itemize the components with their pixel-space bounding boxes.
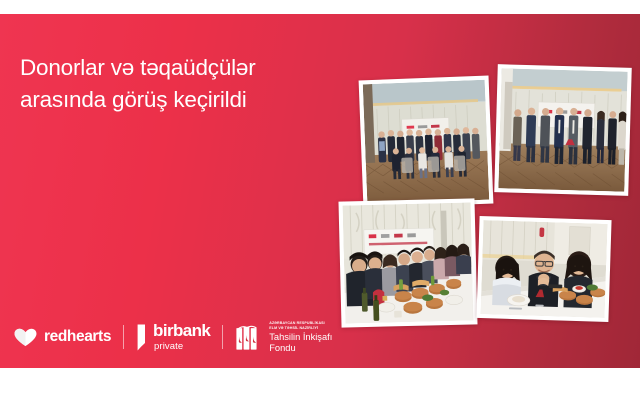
photo-dinner-guests: [338, 198, 477, 327]
photo-collage: [338, 60, 640, 365]
red-banner-background: Donorlar və təqaüdçülər arasında görüş k…: [0, 14, 640, 368]
photo-group-seated-image: [363, 80, 490, 205]
photo-dinner-trio-image: [481, 220, 608, 318]
heart-icon: [14, 328, 37, 347]
photo-dinner-guests-image: [343, 202, 474, 323]
logo-bar: redhearts birbank private: [14, 314, 332, 360]
photo-group-standing: [494, 64, 632, 196]
photo-dinner-trio: [476, 216, 611, 322]
photo-group-seated: [359, 76, 494, 209]
logo-birbank-private: birbank private: [136, 322, 210, 352]
birbank-flag-icon: [136, 324, 146, 351]
education-fund-name: Tahsilin İnkişafı Fondu: [269, 332, 332, 353]
ministry-label: AZƏRBAYCAN RESPUBLİKASI ELM VƏ TƏHSİL NA…: [269, 321, 332, 330]
logo-divider-2: [222, 325, 223, 349]
redhearts-wordmark: redhearts: [44, 328, 111, 346]
logo-divider-1: [123, 325, 124, 349]
logo-education-development-fund: AZƏRBAYCAN RESPUBLİKASI ELM VƏ TƏHSİL NA…: [235, 321, 332, 353]
photo-group-standing-image: [498, 68, 627, 191]
education-fund-emblem-icon: [235, 324, 263, 351]
birbank-subtitle: private: [154, 342, 210, 352]
banner-image: Donorlar və təqaüdçülər arasında görüş k…: [0, 0, 640, 400]
page-title: Donorlar və təqaüdçülər arasında görüş k…: [20, 52, 350, 116]
birbank-wordmark: birbank: [153, 322, 210, 339]
logo-redhearts: redhearts: [14, 328, 111, 347]
